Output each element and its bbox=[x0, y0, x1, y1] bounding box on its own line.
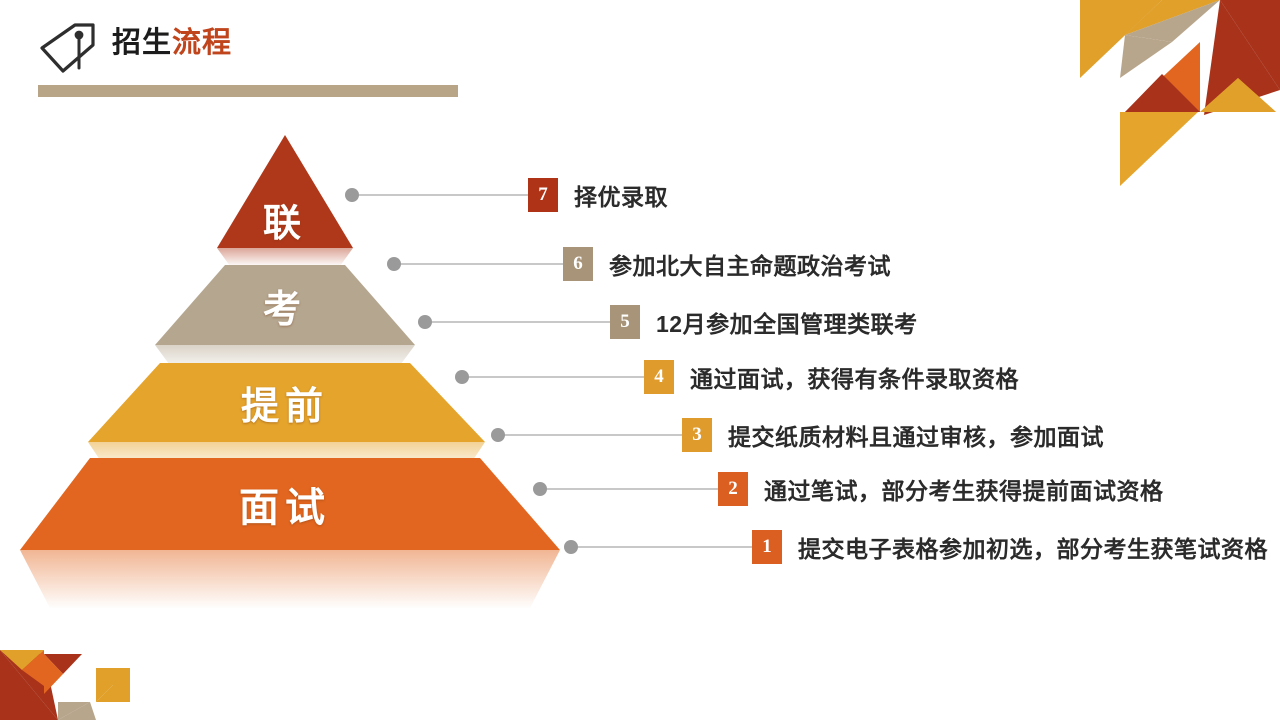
step-text-1: 提交电子表格参加初选，部分考生获笔试资格 bbox=[798, 530, 1268, 564]
step-badge-3: 3 bbox=[682, 418, 712, 452]
step-text-7: 择优录取 bbox=[574, 178, 668, 212]
connector-dot-5 bbox=[418, 315, 432, 329]
step-badge-4: 4 bbox=[644, 360, 674, 394]
step-badge-5: 5 bbox=[610, 305, 640, 339]
step-text-4: 通过面试，获得有条件录取资格 bbox=[690, 360, 1019, 394]
step-row-3[interactable]: 3 提交纸质材料且通过审核，参加面试 bbox=[682, 418, 1104, 452]
connector-dot-3 bbox=[491, 428, 505, 442]
step-text-3: 提交纸质材料且通过审核，参加面试 bbox=[728, 418, 1104, 452]
connector-dot-6 bbox=[387, 257, 401, 271]
step-row-1[interactable]: 1 提交电子表格参加初选，部分考生获笔试资格 bbox=[752, 530, 1268, 564]
step-row-6[interactable]: 6 参加北大自主命题政治考试 bbox=[563, 247, 891, 281]
step-badge-2: 2 bbox=[718, 472, 748, 506]
step-badge-1: 1 bbox=[752, 530, 782, 564]
step-text-5: 12月参加全国管理类联考 bbox=[656, 305, 918, 339]
step-badge-6: 6 bbox=[563, 247, 593, 281]
step-row-7[interactable]: 7 择优录取 bbox=[528, 178, 668, 212]
connector-lines bbox=[0, 0, 1280, 720]
slide-canvas: 招生流程 联 bbox=[0, 0, 1280, 720]
step-badge-7: 7 bbox=[528, 178, 558, 212]
step-text-2: 通过笔试，部分考生获得提前面试资格 bbox=[764, 472, 1164, 506]
connector-dot-2 bbox=[533, 482, 547, 496]
step-row-2[interactable]: 2 通过笔试，部分考生获得提前面试资格 bbox=[718, 472, 1164, 506]
connector-dot-4 bbox=[455, 370, 469, 384]
connector-dot-7 bbox=[345, 188, 359, 202]
step-row-4[interactable]: 4 通过面试，获得有条件录取资格 bbox=[644, 360, 1019, 394]
step-text-6: 参加北大自主命题政治考试 bbox=[609, 247, 891, 281]
connector-dot-1 bbox=[564, 540, 578, 554]
step-row-5[interactable]: 5 12月参加全国管理类联考 bbox=[610, 305, 918, 339]
